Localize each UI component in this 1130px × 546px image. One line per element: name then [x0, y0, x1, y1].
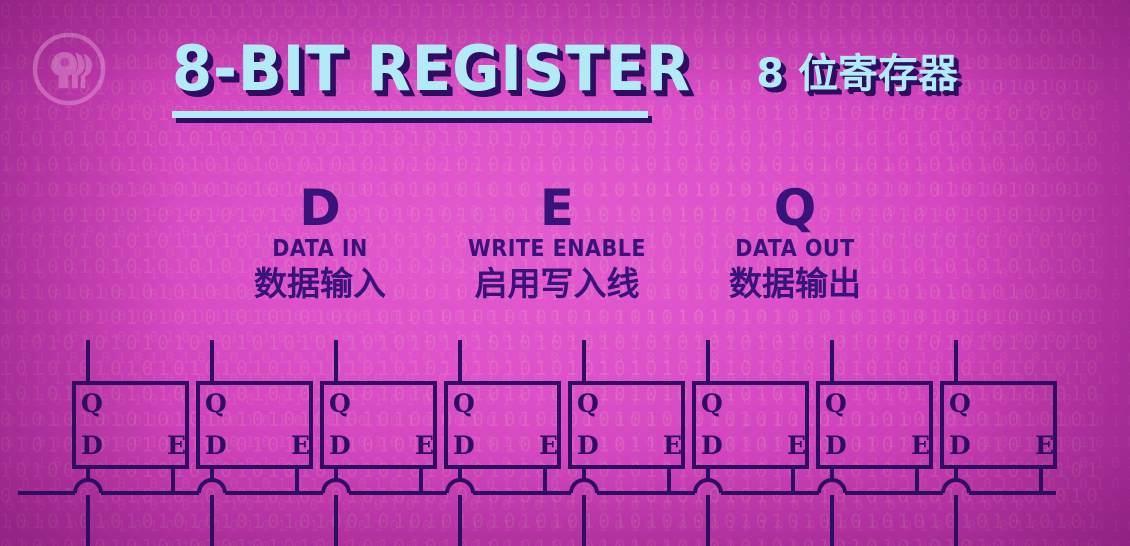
flip-flop-pin-q: Q: [205, 391, 227, 416]
flip-flop-pin-q: Q: [577, 391, 599, 416]
flip-flop-pin-q: Q: [701, 391, 723, 416]
flip-flop-pin-e: E: [663, 433, 682, 458]
flip-flop-pin-q: Q: [453, 391, 475, 416]
flip-flop-pin-d: D: [329, 433, 351, 458]
flip-flop-pin-e: E: [911, 433, 930, 458]
wire-hop-arc: [199, 480, 225, 493]
flip-flop-pin-q: Q: [825, 391, 847, 416]
flip-flop-pin-e: E: [415, 433, 434, 458]
wire-hop-arc: [943, 480, 969, 493]
wire-hop-arc: [819, 480, 845, 493]
flip-flop-pin-d: D: [825, 433, 847, 458]
flip-flop-pin-q: Q: [81, 391, 103, 416]
register-circuit-diagram: QDEQDEQDEQDEQDEQDEQDEQDE: [0, 0, 1130, 546]
flip-flop-pin-d: D: [577, 433, 599, 458]
wire-hop-arc: [447, 480, 473, 493]
flip-flop-pin-d: D: [701, 433, 723, 458]
flip-flop-pin-e: E: [787, 433, 806, 458]
flip-flop-pin-e: E: [1035, 433, 1054, 458]
flip-flop-pin-d: D: [949, 433, 971, 458]
screenshot-root: 1010101010101010101010101010101010101010…: [0, 0, 1130, 546]
flip-flop-pin-d: D: [205, 433, 227, 458]
flip-flop-pin-d: D: [81, 433, 103, 458]
flip-flop-pin-e: E: [291, 433, 310, 458]
wire-hop-arc: [323, 480, 349, 493]
wire-hop-arc: [75, 480, 101, 493]
flip-flop-pin-q: Q: [329, 391, 351, 416]
wire-hop-arc: [695, 480, 721, 493]
circuit-svg: [0, 0, 1130, 546]
flip-flop-pin-e: E: [167, 433, 186, 458]
flip-flop-pin-q: Q: [949, 391, 971, 416]
wire-hop-arc: [571, 480, 597, 493]
flip-flop-pin-d: D: [453, 433, 475, 458]
flip-flop-pin-e: E: [539, 433, 558, 458]
